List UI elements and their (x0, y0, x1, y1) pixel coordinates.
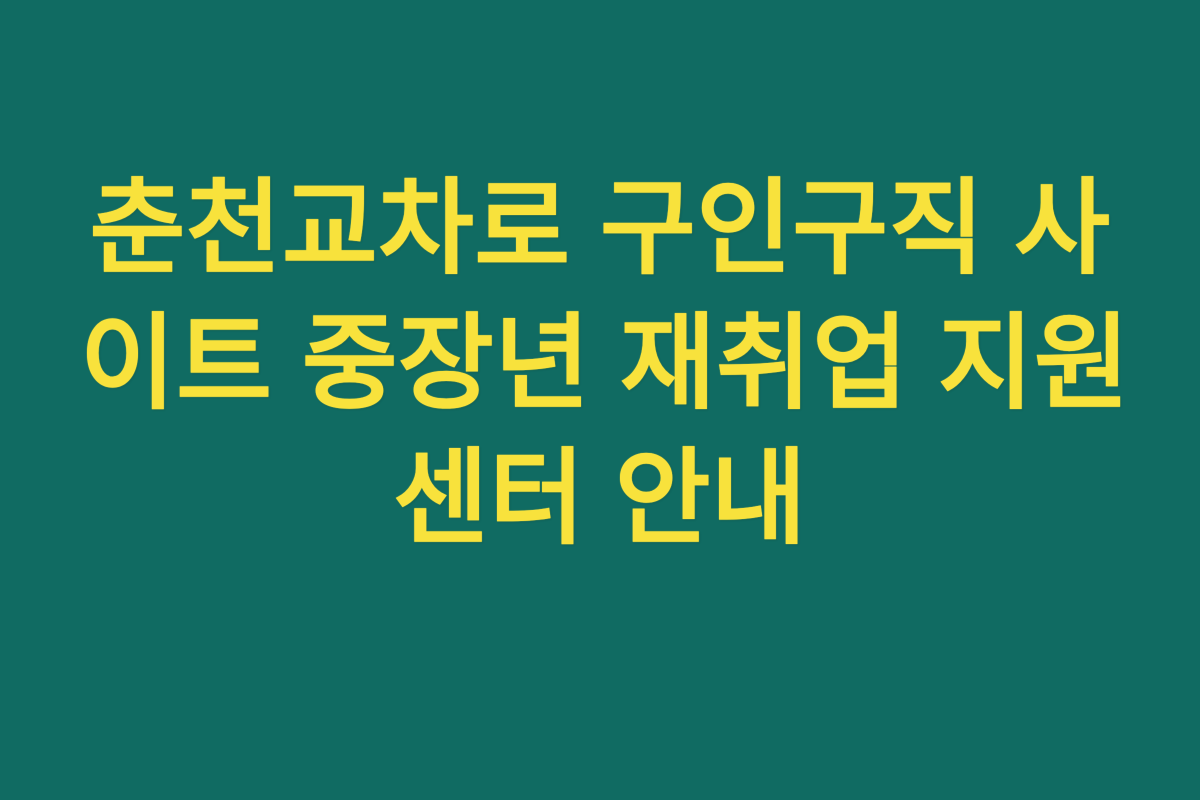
banner-canvas: 춘천교차로 구인구직 사 이트 중장년 재취업 지원 센터 안내 춘천교차로 구… (0, 0, 1200, 800)
headline-line-1: 춘천교차로 구인구직 사 (80, 162, 1120, 297)
headline-line-2: 이트 중장년 재취업 지원 (80, 297, 1120, 432)
headline-line-3: 센터 안내 (80, 432, 1120, 567)
headline-block: 춘천교차로 구인구직 사 이트 중장년 재취업 지원 센터 안내 (80, 162, 1120, 567)
